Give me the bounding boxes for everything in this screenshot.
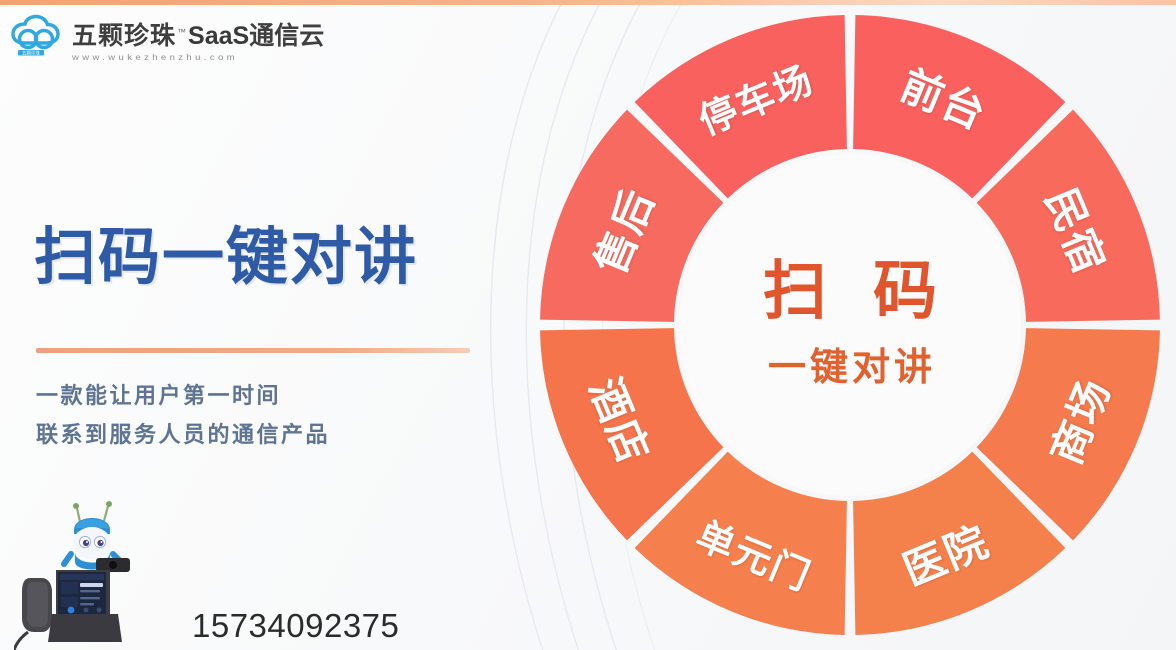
brand-logo[interactable]: 五颗珍珠 五颗珍珠 ™ SaaS 通信云 www.wukezhenzhu.com xyxy=(10,14,324,64)
wheel-center-disc xyxy=(679,154,1021,496)
brand-text: 五颗珍珠 ™ SaaS 通信云 www.wukezhenzhu.com xyxy=(72,14,324,64)
segmented-wheel: 售后停车场前台民宿商场医院单元门酒店 扫 码 一键对讲 xyxy=(533,8,1167,642)
handset-icon xyxy=(14,578,52,650)
wheel-svg xyxy=(533,8,1167,642)
subtitle-block: 一款能让用户第一时间 联系到服务人员的通信产品 xyxy=(36,378,330,455)
subtitle-line-1: 一款能让用户第一时间 xyxy=(36,378,330,417)
desk-videophone-icon xyxy=(48,570,122,642)
trademark-symbol: ™ xyxy=(177,27,186,37)
device-illustration xyxy=(14,492,214,650)
contact-phone-number: 15734092375 xyxy=(192,607,399,645)
cloud-rings-logo-icon: 五颗珍珠 xyxy=(10,14,66,58)
brand-name-saas: SaaS xyxy=(188,22,249,51)
brand-url: www.wukezhenzhu.com xyxy=(72,53,324,62)
page-title: 扫码一键对讲 xyxy=(34,226,418,288)
brand-name-cn: 五颗珍珠 xyxy=(72,16,176,52)
subtitle-line-2: 联系到服务人员的通信产品 xyxy=(36,417,330,456)
title-divider xyxy=(36,348,470,353)
brand-name-cn2: 通信云 xyxy=(249,16,324,52)
top-accent-strip xyxy=(0,0,1176,5)
